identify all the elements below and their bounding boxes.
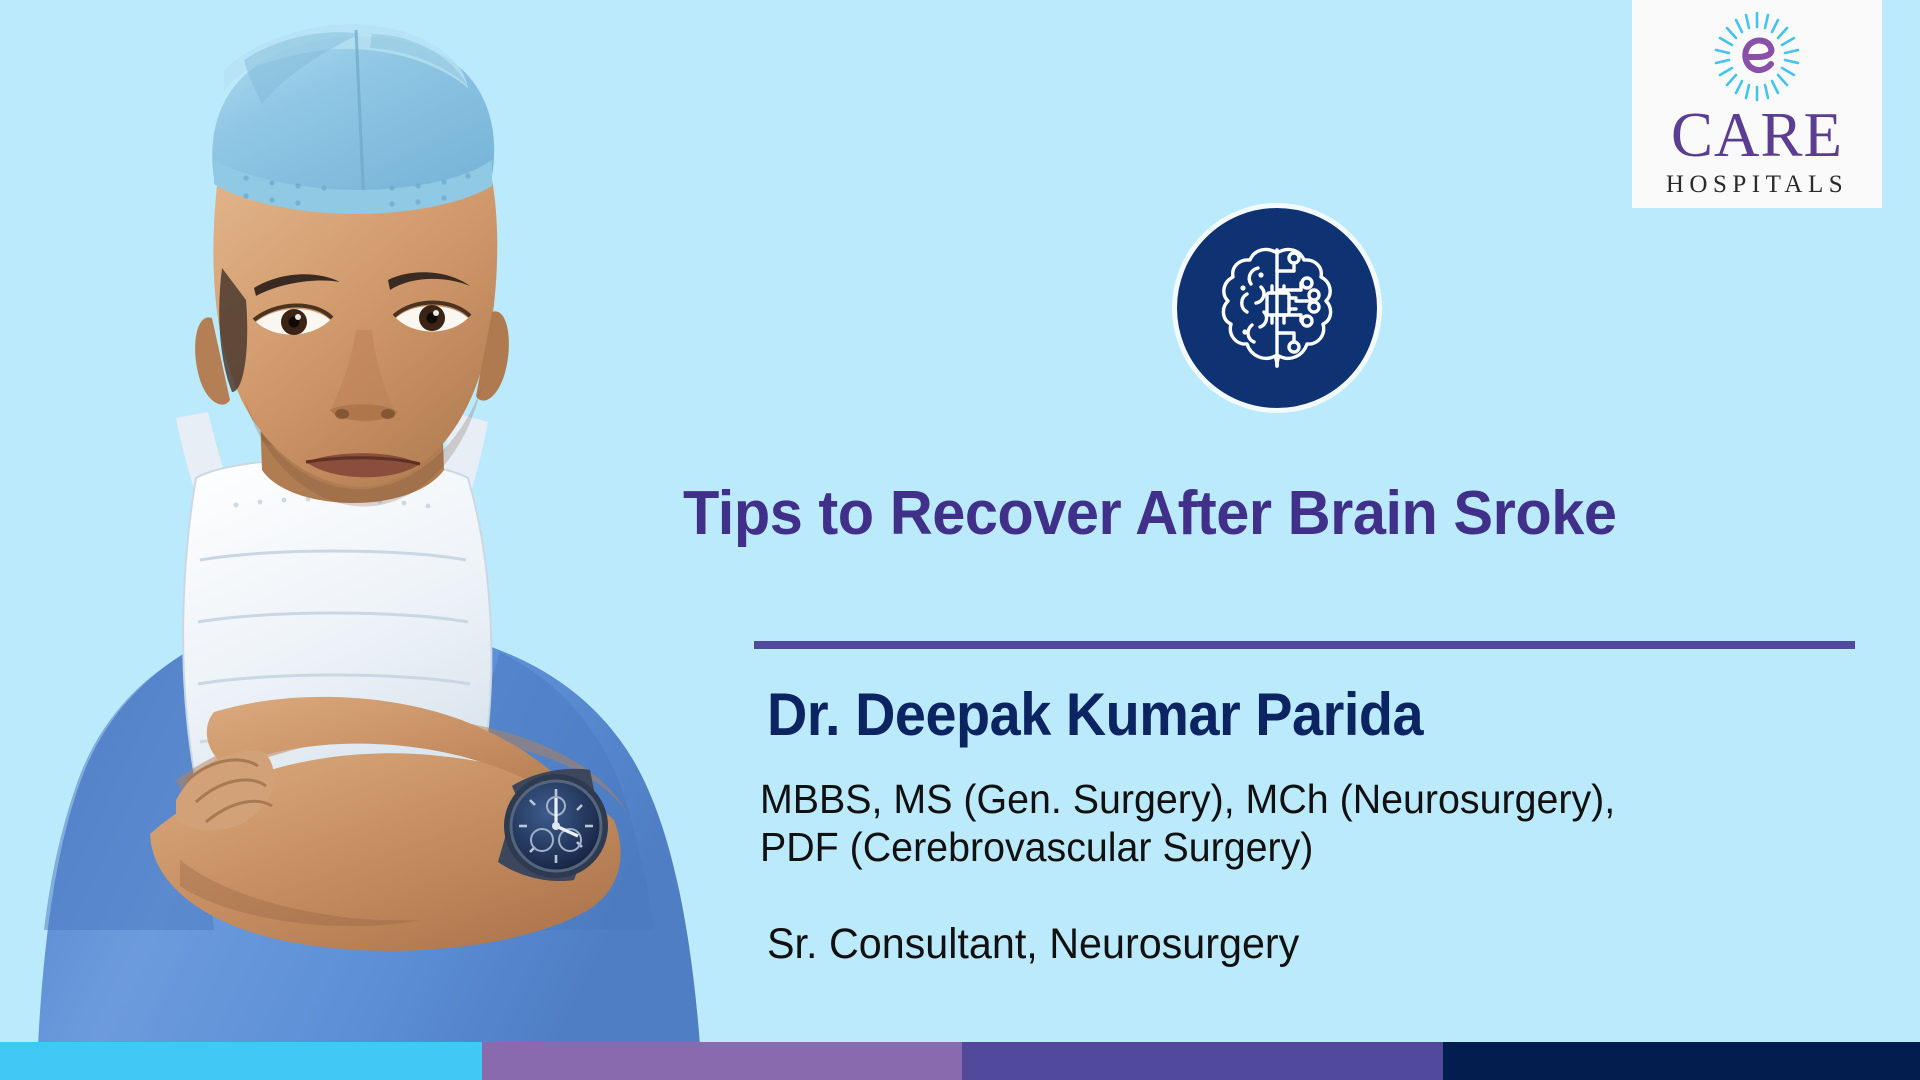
logo-wordmark-hospitals: HOSPITALS [1666, 171, 1848, 199]
divider-rule [754, 641, 1855, 649]
doctor-designation: Sr. Consultant, Neurosurgery [767, 921, 1299, 968]
logo-wordmark-care: CARE [1671, 104, 1843, 167]
e-sunburst-icon [1711, 10, 1803, 102]
segment-cyan [0, 1042, 482, 1080]
credentials-line-2: PDF (Cerebrovascular Surgery) [760, 824, 1874, 872]
care-hospitals-logo: CARE HOSPITALS [1632, 0, 1882, 208]
page-title: Tips to Recover After Brain Sroke [683, 481, 1835, 546]
brain-circuit-icon [1172, 203, 1382, 413]
doctor-credentials: MBBS, MS (Gen. Surgery), MCh (Neurosurge… [760, 776, 1874, 872]
segment-mauve [482, 1042, 962, 1080]
promo-banner: Dr. DEEPAK K [0, 0, 1920, 1080]
surgical-cap [212, 24, 494, 214]
segment-deep-purple [962, 1042, 1443, 1080]
segment-navy [1443, 1042, 1920, 1080]
bottom-color-bar [0, 1042, 1920, 1080]
doctor-portrait-photo: Dr. DEEPAK K [0, 0, 760, 1045]
doctor-name: Dr. Deepak Kumar Parida [767, 683, 1423, 746]
credentials-line-1: MBBS, MS (Gen. Surgery), MCh (Neurosurge… [760, 776, 1874, 824]
